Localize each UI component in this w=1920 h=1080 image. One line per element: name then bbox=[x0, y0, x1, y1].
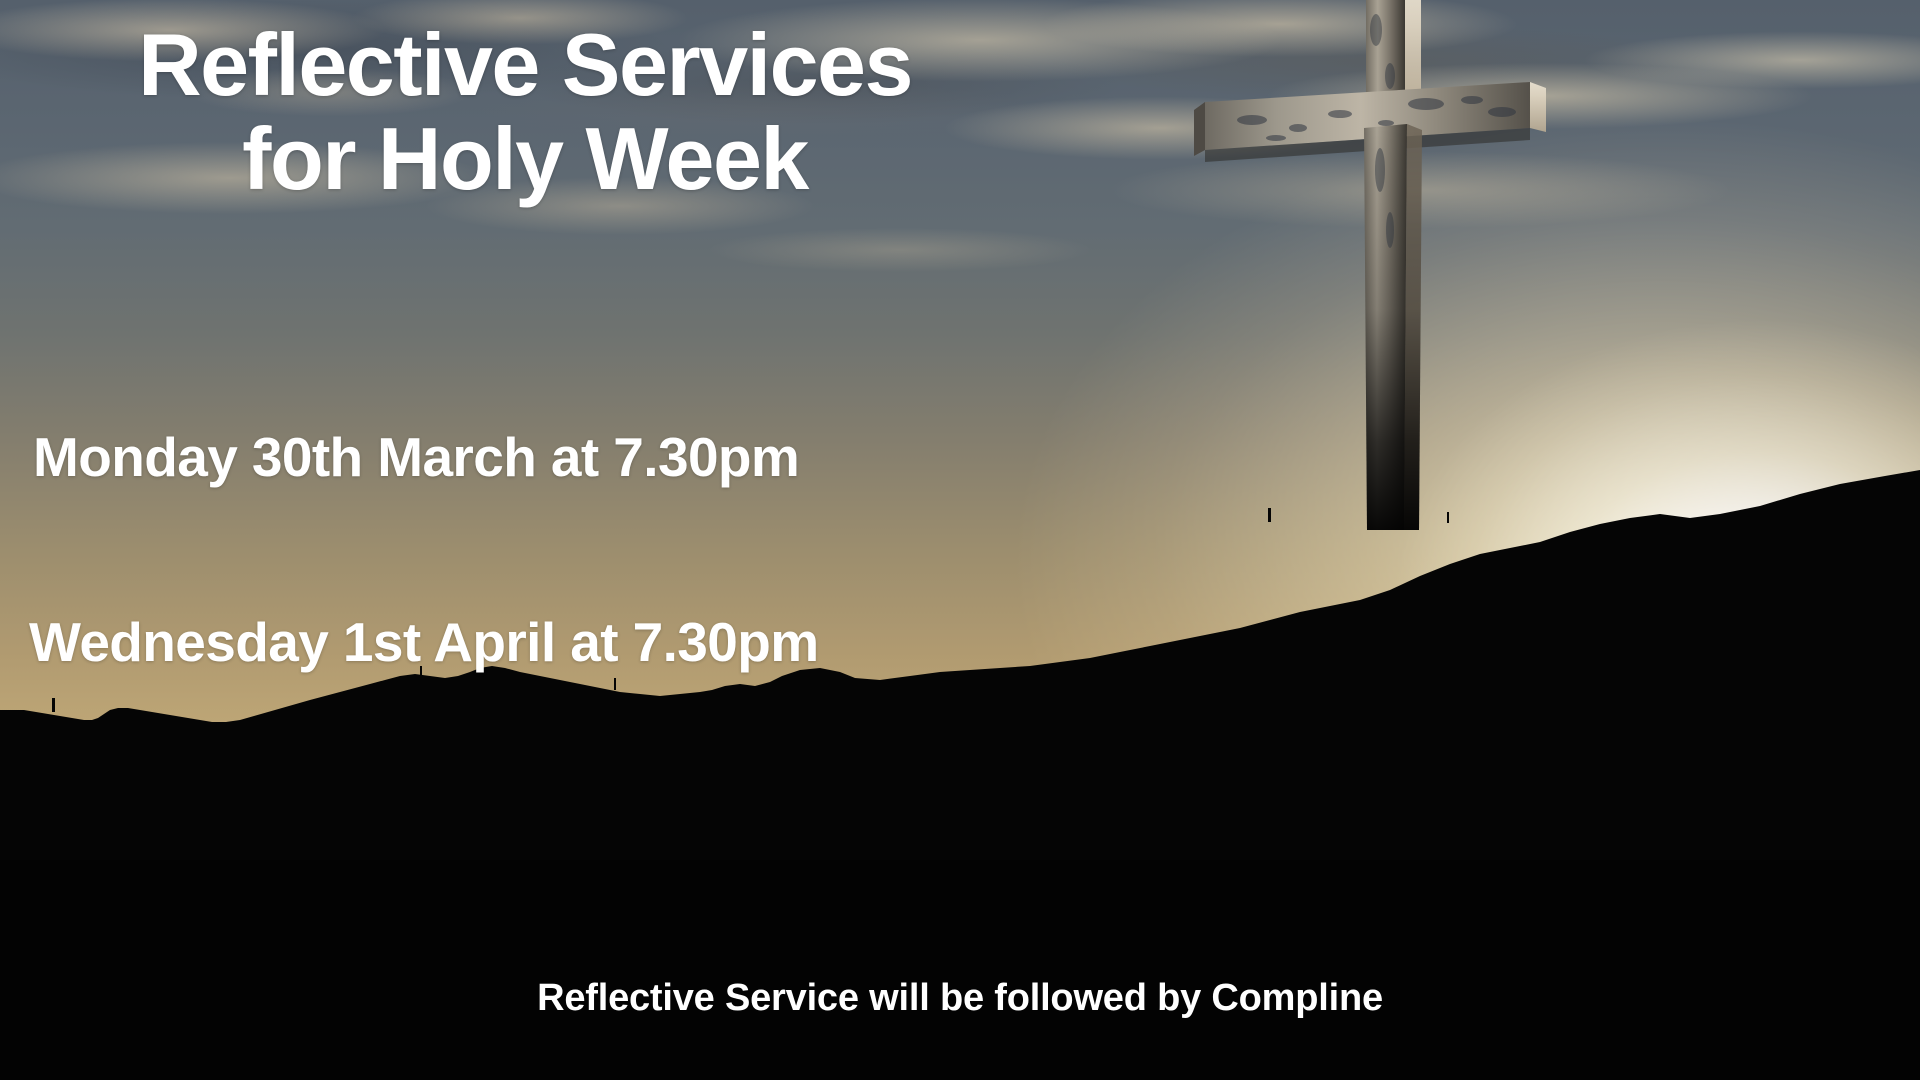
service-date-monday: Monday 30th March at 7.30pm bbox=[33, 425, 799, 489]
service-date-wednesday: Wednesday 1st April at 7.30pm bbox=[29, 610, 819, 674]
holy-week-poster: Reflective Services for Holy Week Monday… bbox=[0, 0, 1920, 1080]
page-title-line-2: for Holy Week bbox=[0, 112, 1050, 206]
page-title-line-1: Reflective Services bbox=[0, 18, 1050, 112]
foreground-ground bbox=[0, 860, 1920, 1080]
compline-footnote: Reflective Service will be followed by C… bbox=[0, 977, 1920, 1020]
page-title: Reflective Services for Holy Week bbox=[0, 18, 1050, 206]
